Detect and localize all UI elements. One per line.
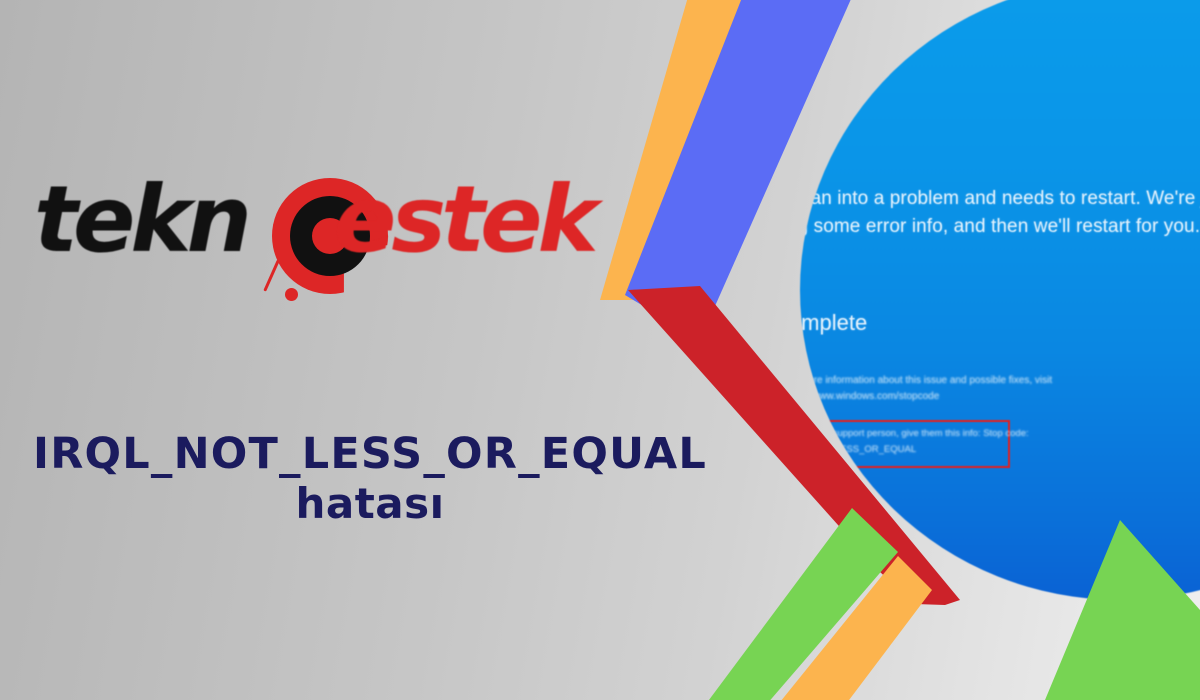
- decorative-ribbons: [0, 0, 1200, 700]
- brand-logo[interactable]: tekn estek: [34, 168, 634, 308]
- poster-canvas: Your PC ran into a problem and needs to …: [0, 0, 1200, 700]
- logo-headset-mic-arm-icon: [263, 259, 280, 291]
- logo-text-estek: estek: [334, 168, 594, 272]
- page-title: IRQL_NOT_LESS_OR_EQUAL hatası: [0, 430, 740, 528]
- page-title-line-2: hatası: [0, 479, 740, 528]
- page-title-line-1: IRQL_NOT_LESS_OR_EQUAL: [33, 429, 707, 479]
- logo-headset-mic-tip-icon: [285, 288, 298, 301]
- logo-text-tekn: tekn: [34, 168, 247, 272]
- ribbon-green-corner: [1040, 520, 1200, 700]
